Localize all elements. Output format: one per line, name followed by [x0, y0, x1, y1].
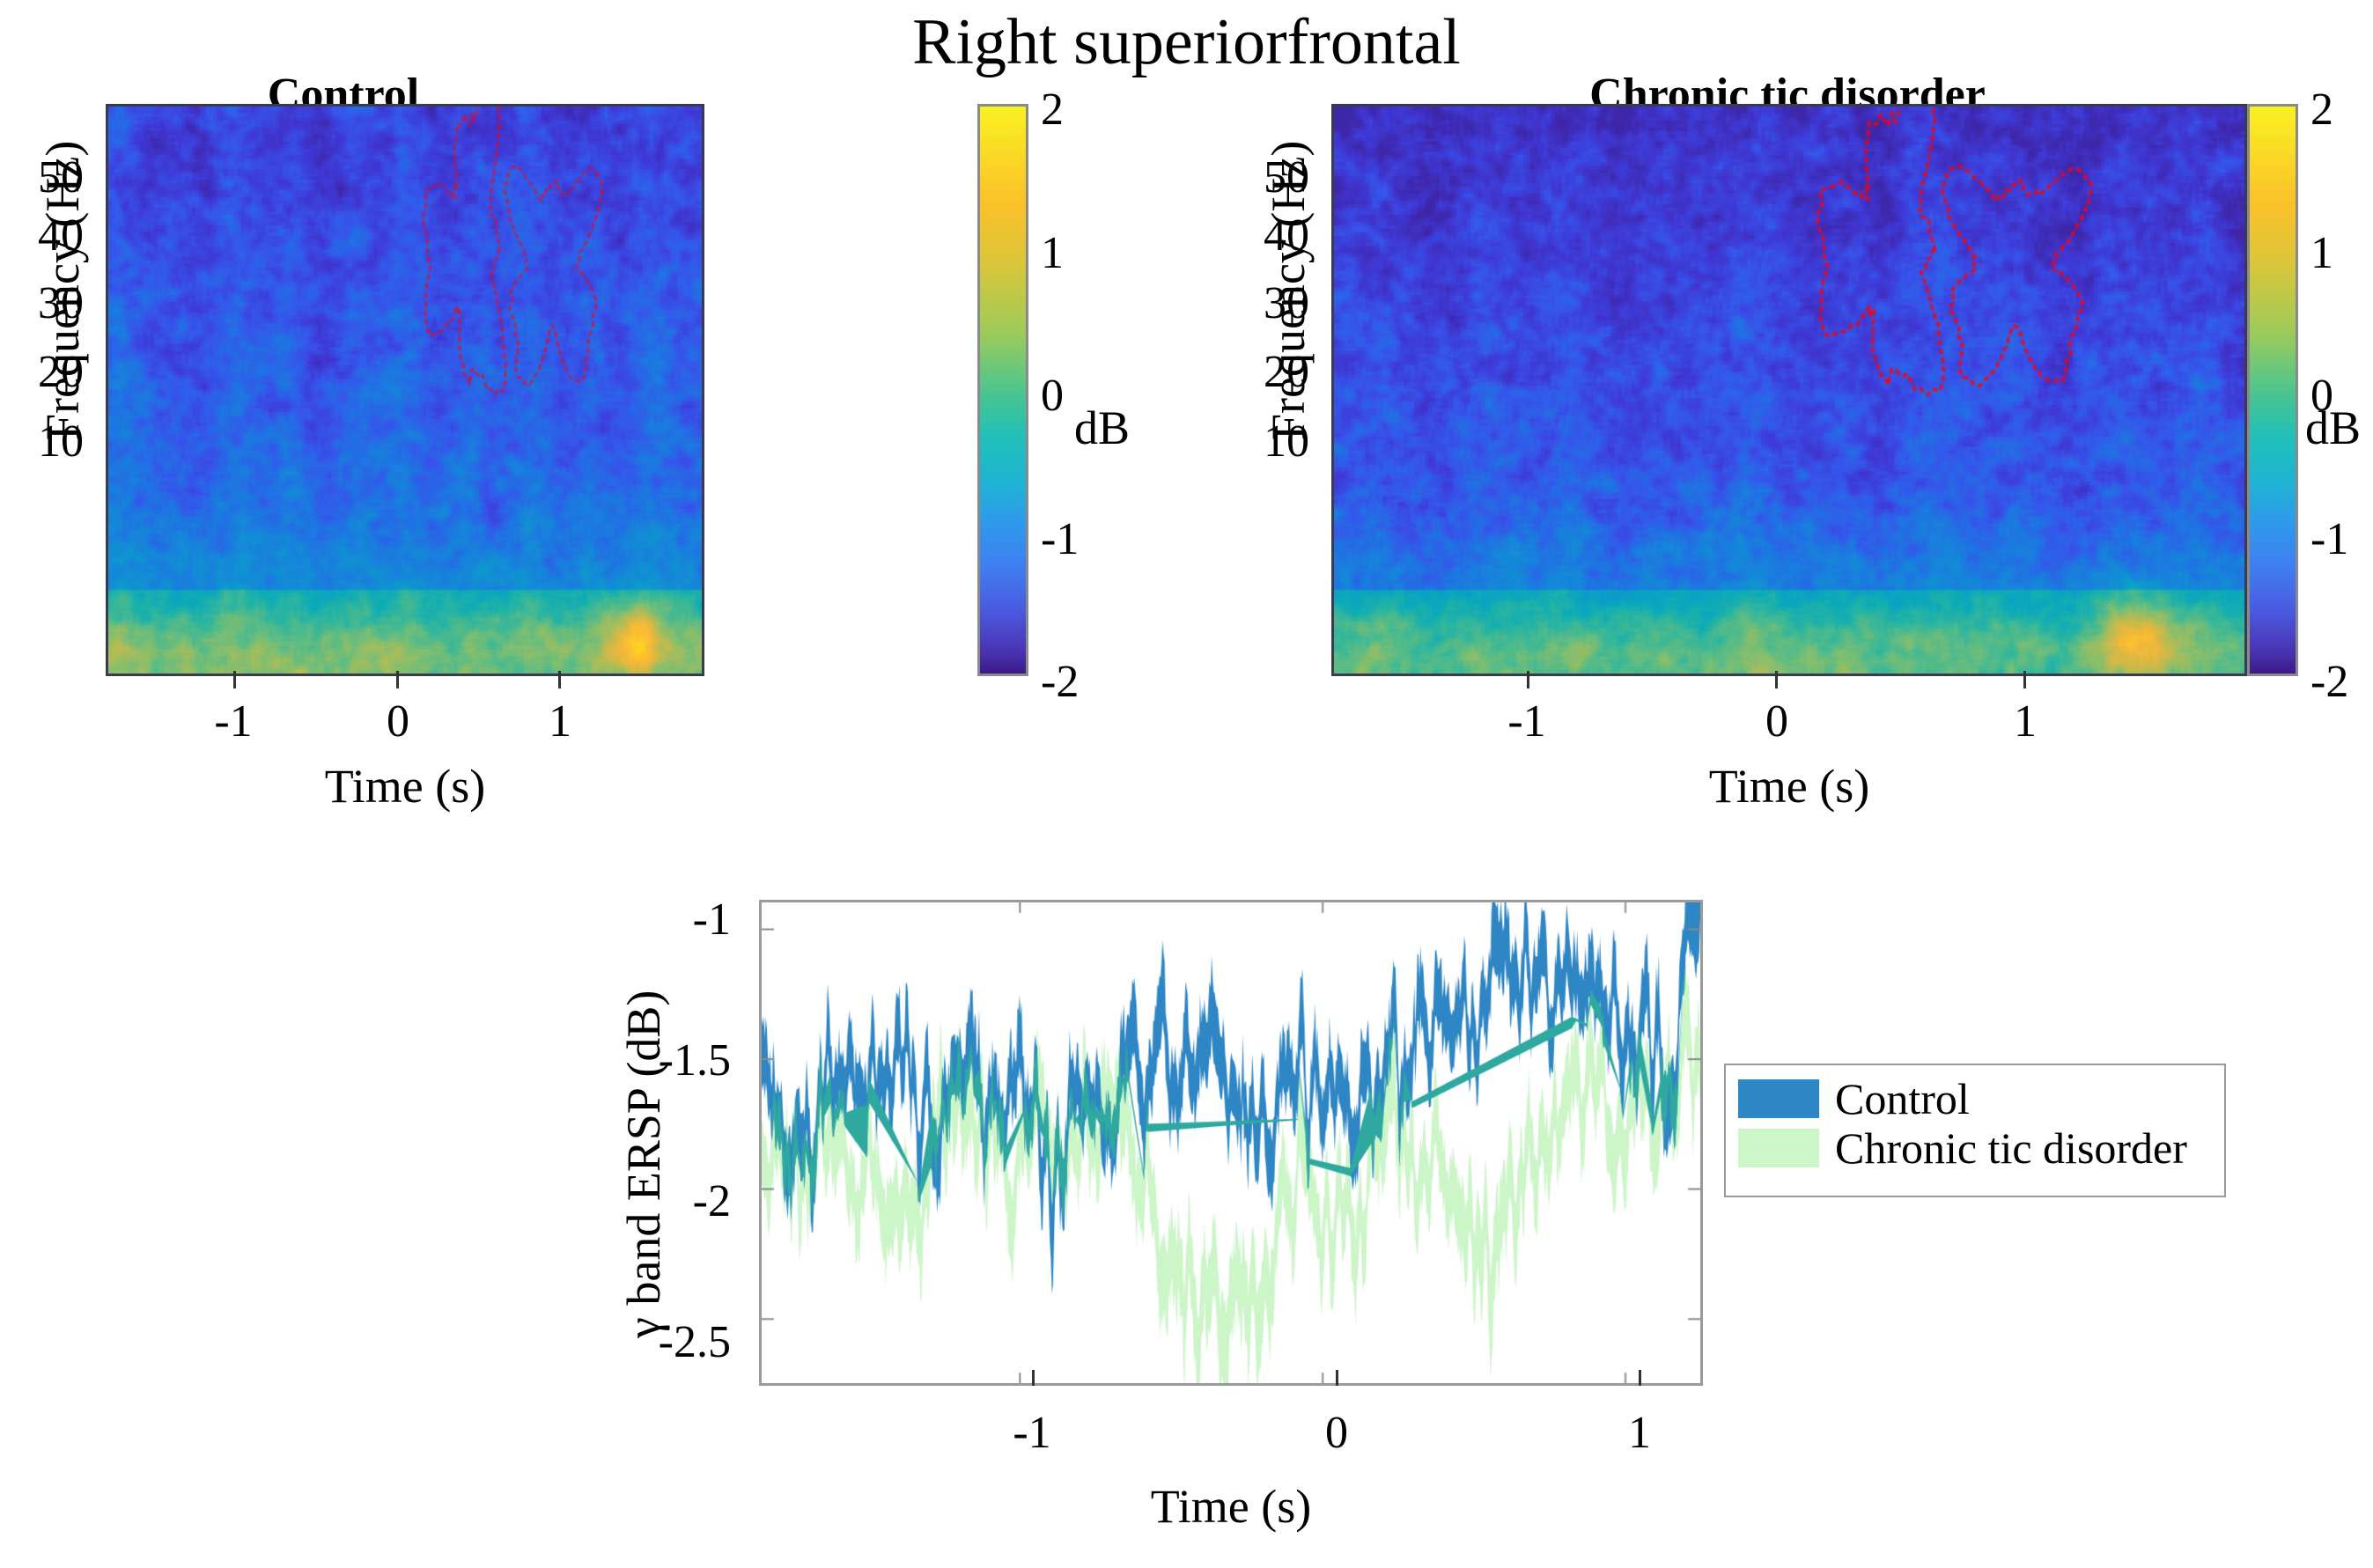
ytick-bottom-m25: -2.5 — [581, 1316, 731, 1368]
xtick-bottom-m1: -1 — [979, 1407, 1085, 1459]
ytick-right-30: 30 — [1226, 277, 1309, 329]
legend-swatch-control — [1738, 1079, 1819, 1118]
xtick-left-0: 0 — [345, 696, 451, 747]
cbartick-right-2: 2 — [2310, 84, 2333, 136]
legend-label-chronic: Chronic tic disorder — [1835, 1126, 2187, 1170]
xtick-right-0: 0 — [1724, 696, 1830, 747]
colorbar-control[interactable] — [977, 104, 1028, 676]
xtick-mark-bottom-0 — [1336, 1370, 1338, 1386]
ytick-bottom-m1: -1 — [581, 894, 731, 946]
axis-label-time-right: Time (s) — [1331, 759, 2247, 813]
ytick-left-20: 20 — [0, 346, 84, 398]
gamma-ersp-plot[interactable] — [759, 900, 1703, 1386]
xtick-mark-left-0 — [396, 671, 399, 688]
gamma-ersp-canvas — [762, 902, 1700, 1383]
xtick-mark-right-1 — [2023, 671, 2026, 688]
ytick-left-30: 30 — [0, 277, 84, 329]
xtick-mark-right-0 — [1775, 671, 1778, 688]
legend-swatch-chronic — [1738, 1129, 1819, 1167]
xtick-bottom-0: 0 — [1284, 1407, 1389, 1459]
heatmap-chronic-canvas — [1334, 107, 2244, 674]
xtick-mark-right-m1 — [1527, 671, 1529, 688]
ytick-left-10: 10 — [0, 416, 84, 467]
cbartick-right-1: 1 — [2310, 227, 2333, 279]
xtick-bottom-1: 1 — [1587, 1407, 1692, 1459]
legend-label-control: Control — [1835, 1077, 1970, 1121]
ytick-right-40: 40 — [1226, 210, 1309, 261]
colorbar-label-right: dB — [2305, 401, 2361, 455]
ytick-left-50: 50 — [0, 151, 84, 203]
heatmap-chronic[interactable] — [1331, 104, 2247, 676]
xtick-mark-bottom-m1 — [1032, 1370, 1035, 1386]
xtick-left-1: 1 — [507, 696, 613, 747]
xtick-mark-bottom-1 — [1639, 1370, 1641, 1386]
cbartick-left-2: 2 — [1041, 84, 1064, 136]
ytick-bottom-m2: -2 — [581, 1175, 731, 1227]
cbartick-left-m1: -1 — [1041, 513, 1079, 565]
colorbar-label-left: dB — [1074, 401, 1130, 455]
xtick-right-m1: -1 — [1474, 696, 1580, 747]
xtick-mark-left-m1 — [233, 671, 236, 688]
xtick-mark-left-1 — [558, 671, 561, 688]
cbartick-left-1: 1 — [1041, 227, 1064, 279]
heatmap-control-canvas — [108, 107, 702, 674]
heatmap-control[interactable] — [106, 104, 704, 676]
ytick-bottom-m15: -1.5 — [581, 1034, 731, 1086]
legend-item-control[interactable]: Control — [1738, 1074, 2208, 1123]
cbartick-left-m2: -2 — [1041, 656, 1079, 708]
cbartick-right-m1: -1 — [2310, 513, 2348, 565]
legend[interactable]: Control Chronic tic disorder — [1724, 1064, 2226, 1197]
xtick-left-m1: -1 — [181, 696, 286, 747]
cbartick-right-m2: -2 — [2310, 656, 2348, 708]
axis-label-time-bottom: Time (s) — [759, 1479, 1703, 1534]
colorbar-chronic[interactable] — [2247, 104, 2298, 676]
cbartick-left-0: 0 — [1041, 370, 1064, 422]
xtick-right-1: 1 — [1972, 696, 2078, 747]
ytick-left-40: 40 — [0, 210, 84, 261]
ytick-right-20: 20 — [1226, 346, 1309, 398]
legend-item-chronic[interactable]: Chronic tic disorder — [1738, 1123, 2208, 1173]
axis-label-time-left: Time (s) — [106, 759, 704, 813]
ytick-right-10: 10 — [1226, 416, 1309, 467]
ytick-right-50: 50 — [1226, 151, 1309, 203]
